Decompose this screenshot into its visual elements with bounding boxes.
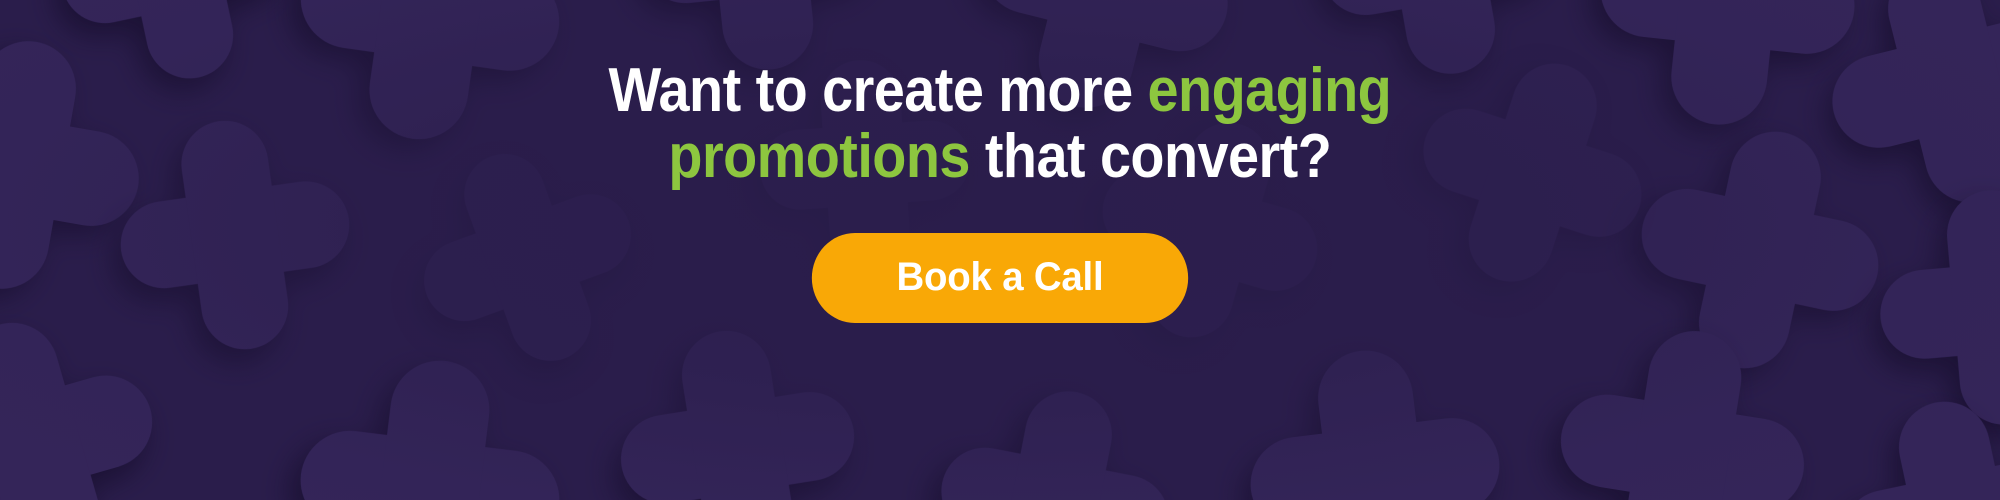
headline-text-2: that convert? <box>970 122 1331 191</box>
book-a-call-button[interactable]: Book a Call <box>812 233 1188 323</box>
cta-banner: Want to create more engaging promotions … <box>0 0 2000 500</box>
cta-container: Book a Call <box>0 233 2000 323</box>
headline-accent-1: engaging <box>1148 56 1392 125</box>
headline: Want to create more engaging promotions … <box>609 0 1392 191</box>
headline-text-1: Want to create more <box>609 56 1148 125</box>
headline-accent-2: promotions <box>669 122 970 191</box>
banner-content: Want to create more engaging promotions … <box>0 0 2000 500</box>
